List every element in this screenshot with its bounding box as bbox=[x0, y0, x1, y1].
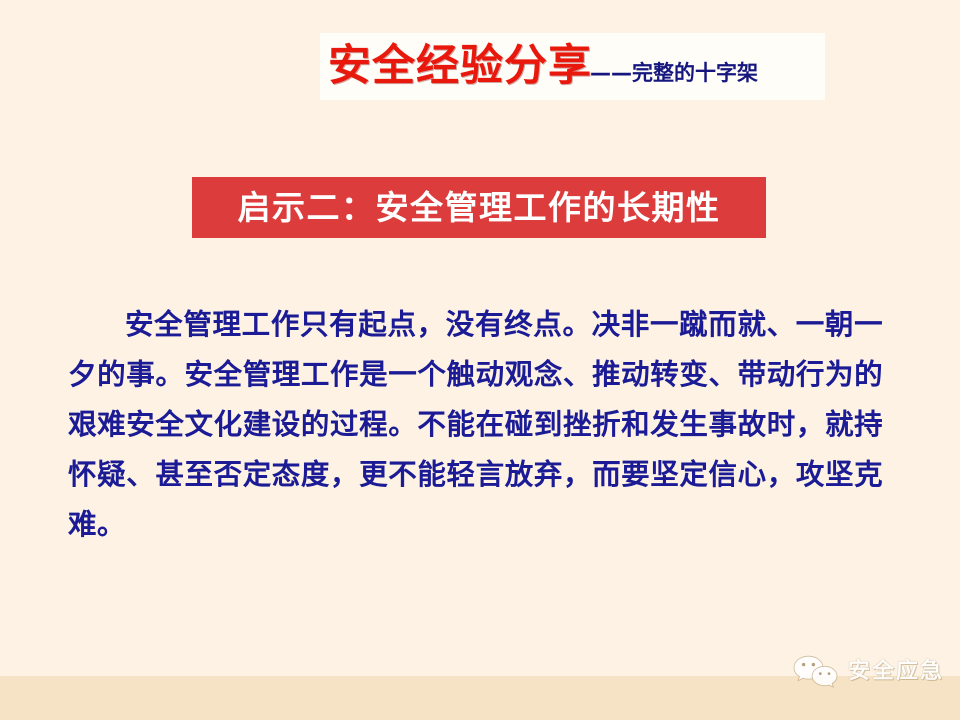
slide-canvas: 安全经验分享 ——完整的十字架 启示二：安全管理工作的长期性 安全管理工作只有起… bbox=[0, 0, 960, 720]
slide-title: 安全经验分享 bbox=[328, 45, 592, 88]
slide-title-plaque: 安全经验分享 ——完整的十字架 bbox=[320, 33, 825, 100]
slide-subtitle: ——完整的十字架 bbox=[590, 63, 758, 84]
body-paragraph: 安全管理工作只有起点，没有终点。决非一蹴而就、一朝一夕的事。安全管理工作是一个触… bbox=[68, 300, 883, 550]
section-banner-label: 启示二：安全管理工作的长期性 bbox=[238, 191, 721, 224]
watermark-label: 安全应急 bbox=[848, 661, 944, 683]
watermark: 安全应急 bbox=[793, 655, 944, 689]
section-banner: 启示二：安全管理工作的长期性 bbox=[192, 177, 766, 238]
wechat-icon bbox=[793, 655, 839, 689]
